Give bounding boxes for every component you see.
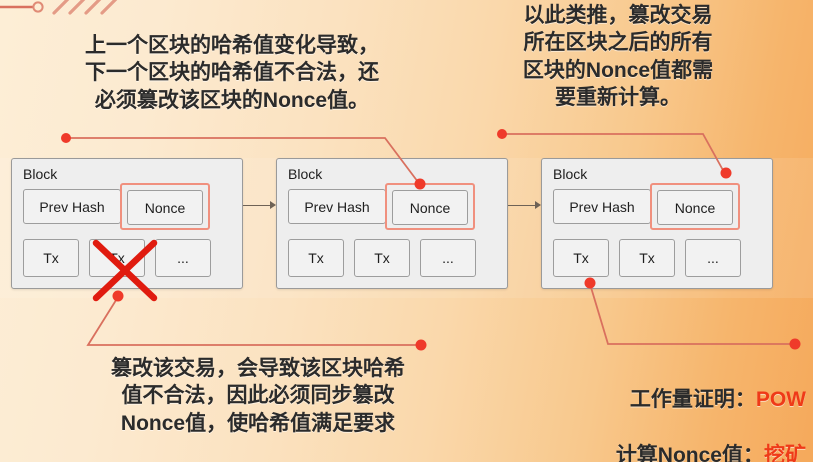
block-2-prev-hash[interactable]: Prev Hash — [288, 189, 386, 224]
block-3-title: Block — [553, 166, 587, 182]
block-3[interactable]: Block Prev Hash Nonce Tx Tx ... — [541, 158, 773, 289]
blockchain-diagram: Block Prev Hash Nonce Tx Tx ... Block Pr… — [0, 158, 813, 298]
block-2[interactable]: Block Prev Hash Nonce Tx Tx ... — [276, 158, 508, 289]
block-3-nonce-highlight: Nonce — [650, 183, 740, 230]
legend-value-0: POW — [756, 388, 806, 411]
slide-canvas: Block Prev Hash Nonce Tx Tx ... Block Pr… — [0, 0, 813, 462]
block-2-tx-1[interactable]: Tx — [354, 239, 410, 277]
legend-summary: 工作量证明：POW 计算Nonce值：挖矿 记账人：矿工 — [548, 358, 806, 462]
legend-label-1: 计算Nonce值： — [616, 444, 764, 462]
callout-dot-top-right-start — [497, 129, 507, 139]
block-1-prev-hash[interactable]: Prev Hash — [23, 189, 121, 224]
block-3-nonce[interactable]: Nonce — [657, 190, 733, 225]
legend-label-0: 工作量证明： — [630, 388, 756, 411]
callout-dot-top-left-start — [61, 133, 71, 143]
callout-dot-bottom-right-end — [790, 339, 801, 350]
block-2-tx-2[interactable]: ... — [420, 239, 476, 277]
block-2-tx-row: Tx Tx ... — [288, 239, 476, 277]
chain-arrow-1-to-2 — [243, 158, 276, 289]
block-3-header-row: Prev Hash — [553, 189, 651, 224]
block-3-tx-2[interactable]: ... — [685, 239, 741, 277]
block-1-tx-2[interactable]: ... — [155, 239, 211, 277]
annotation-top-left: 上一个区块的哈希值变化导致， 下一个区块的哈希值不合法，还 必须篡改该区块的No… — [32, 32, 432, 114]
annotation-bottom-left: 篡改该交易，会导致该区块哈希 值不合法，因此必须同步篡改 Nonce值，使哈希值… — [58, 355, 458, 437]
block-1-tx-1[interactable]: Tx — [89, 239, 145, 277]
block-1-nonce[interactable]: Nonce — [127, 190, 203, 225]
block-3-tx-1[interactable]: Tx — [619, 239, 675, 277]
block-2-tx-0[interactable]: Tx — [288, 239, 344, 277]
chain-arrow-2-to-3 — [508, 158, 541, 289]
block-3-prev-hash[interactable]: Prev Hash — [553, 189, 651, 224]
block-3-tx-0[interactable]: Tx — [553, 239, 609, 277]
block-2-nonce[interactable]: Nonce — [392, 190, 468, 225]
block-2-nonce-highlight: Nonce — [385, 183, 475, 230]
block-3-tx-row: Tx Tx ... — [553, 239, 741, 277]
block-1-tx-0[interactable]: Tx — [23, 239, 79, 277]
corner-flourish-decoration — [0, 0, 170, 24]
callout-dot-bottom-left-end — [416, 340, 427, 351]
legend-row-0: 工作量证明：POW — [548, 386, 806, 414]
legend-row-1: 计算Nonce值：挖矿 — [548, 442, 806, 462]
block-1[interactable]: Block Prev Hash Nonce Tx Tx ... — [11, 158, 243, 289]
block-1-header-row: Prev Hash — [23, 189, 121, 224]
callout-line-bottom-left — [88, 291, 427, 351]
legend-value-1: 挖矿 — [764, 444, 806, 462]
block-2-title: Block — [288, 166, 322, 182]
block-1-nonce-highlight: Nonce — [120, 183, 210, 230]
block-2-header-row: Prev Hash — [288, 189, 386, 224]
annotation-top-right: 以此类推，篡改交易 所在区块之后的所有 区块的Nonce值都需 要重新计算。 — [484, 2, 752, 111]
block-1-title: Block — [23, 166, 57, 182]
block-1-tx-row: Tx Tx ... — [23, 239, 211, 277]
